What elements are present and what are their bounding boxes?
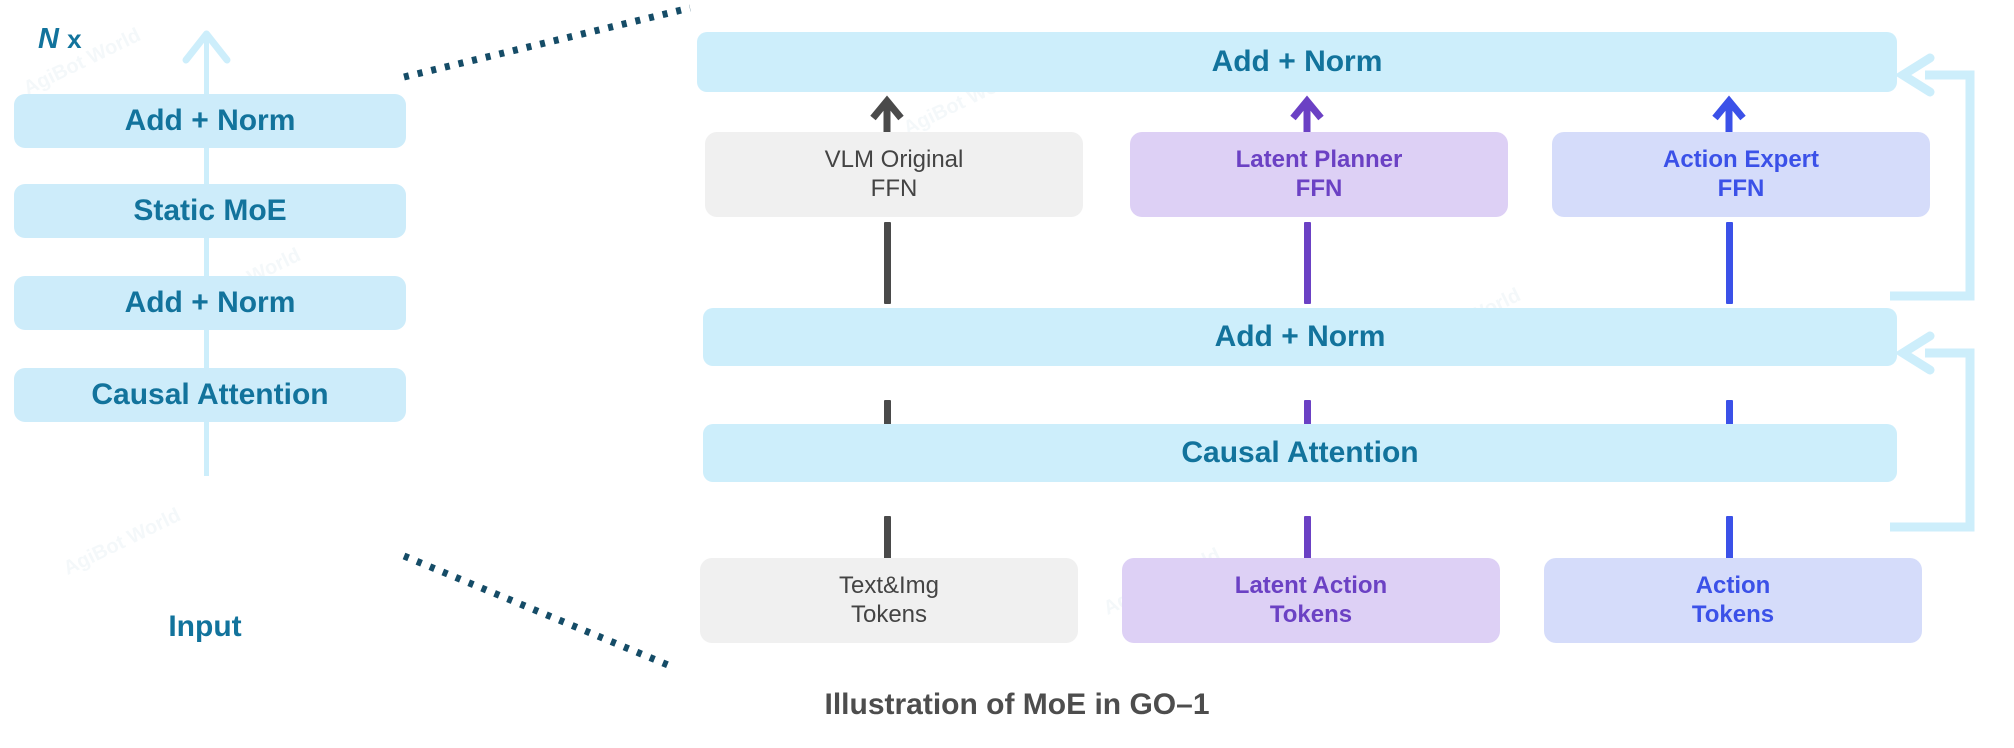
- wire-blue-upper: [1726, 222, 1733, 304]
- residual-arrowhead-upper: [1903, 58, 1930, 92]
- wire-purple-upper: [1304, 222, 1311, 304]
- left-block-static-moe[interactable]: Static MoE: [14, 184, 406, 238]
- up-arrow-icon-purple: [1293, 101, 1321, 118]
- left-block-causal-attention[interactable]: Causal Attention: [14, 368, 406, 422]
- residual-arrowhead-lower: [1903, 336, 1930, 370]
- figure-canvas: AgiBot World AgiBot World AgiBot World A…: [0, 0, 2014, 748]
- wire-purple-lower: [1304, 516, 1311, 560]
- left-wire-1: [204, 142, 209, 184]
- watermark: AgiBot World: [60, 504, 185, 581]
- repeat-count-n: N: [38, 23, 59, 55]
- up-arrow-icon: [186, 34, 227, 60]
- wire-blue-lower: [1726, 516, 1733, 560]
- wire-gray-upper: [884, 222, 891, 304]
- token-latent-action[interactable]: Latent Action Tokens: [1122, 558, 1500, 643]
- dotted-connector-top: [404, 8, 690, 77]
- expert-latent-planner-ffn[interactable]: Latent Planner FFN: [1130, 132, 1508, 217]
- right-causal-attention[interactable]: Causal Attention: [703, 424, 1897, 482]
- left-wire-2: [204, 236, 209, 280]
- repeat-count-label: N x: [38, 23, 82, 56]
- expert-vlm-original-ffn[interactable]: VLM Original FFN: [705, 132, 1083, 217]
- left-wire-3: [204, 328, 209, 372]
- token-text-img[interactable]: Text&Img Tokens: [700, 558, 1078, 643]
- wire-gray-lower: [884, 516, 891, 560]
- residual-path-lower: [1890, 353, 1970, 527]
- expert-action-expert-ffn[interactable]: Action Expert FFN: [1552, 132, 1930, 217]
- figure-caption: Illustration of MoE in GO–1: [607, 688, 1427, 722]
- left-wire-input: [204, 420, 209, 476]
- repeat-count-x: x: [59, 24, 82, 54]
- up-arrow-icon-gray: [873, 101, 901, 118]
- input-label: Input: [60, 610, 350, 644]
- left-block-add-norm-top[interactable]: Add + Norm: [14, 94, 406, 148]
- token-action[interactable]: Action Tokens: [1544, 558, 1922, 643]
- right-add-norm-mid[interactable]: Add + Norm: [703, 308, 1897, 366]
- left-block-add-norm-bottom[interactable]: Add + Norm: [14, 276, 406, 330]
- dotted-connector-bottom: [404, 556, 668, 665]
- right-add-norm-top[interactable]: Add + Norm: [697, 32, 1897, 92]
- up-arrow-icon-blue: [1715, 101, 1743, 118]
